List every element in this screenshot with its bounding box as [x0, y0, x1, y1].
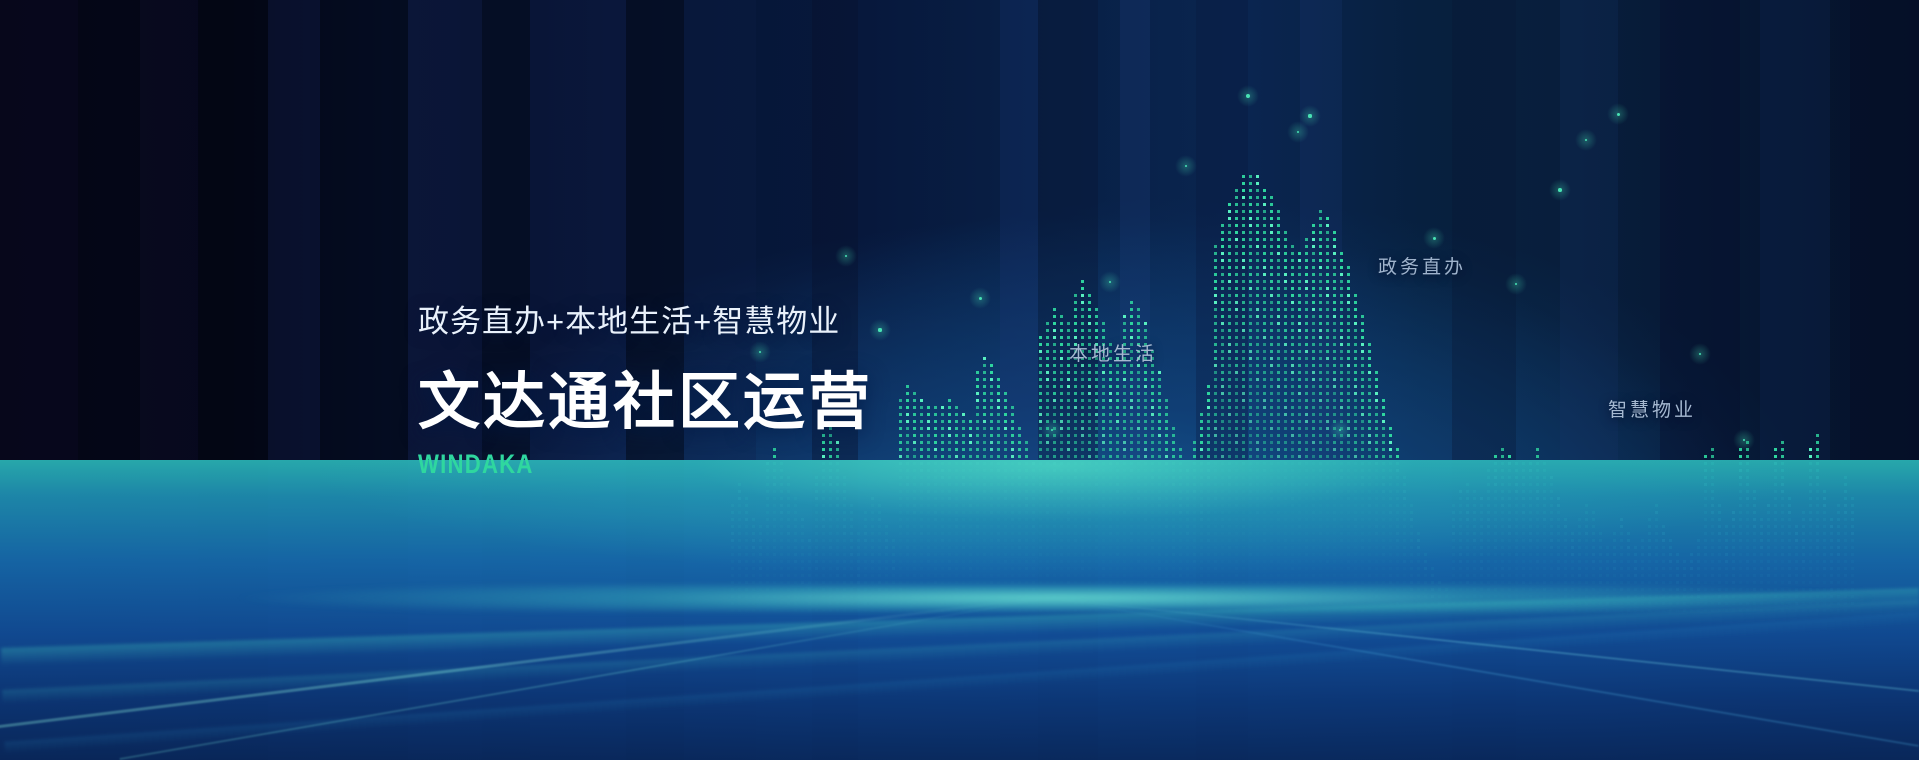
skyline-dot — [934, 420, 937, 423]
skyline-dot — [1228, 266, 1231, 269]
skyline-dot — [1200, 427, 1203, 430]
skyline-dot — [1207, 448, 1210, 451]
skyline-dot — [1109, 385, 1112, 388]
skyline-dot — [1249, 203, 1252, 206]
skyline-dot — [899, 448, 902, 451]
skyline-dot — [1326, 280, 1329, 283]
skyline-dot — [1256, 336, 1259, 339]
skyline-dot — [983, 434, 986, 437]
skyline-dot — [1333, 364, 1336, 367]
skyline-dot — [1263, 301, 1266, 304]
skyline-dot — [1165, 448, 1168, 451]
skyline-dot — [1039, 399, 1042, 402]
skyline-dot — [1361, 336, 1364, 339]
skyline-dot — [1228, 385, 1231, 388]
skyline-dot — [1074, 329, 1077, 332]
skyline-dot — [1354, 455, 1357, 458]
skyline-dot — [1326, 308, 1329, 311]
skyline-dot — [962, 455, 965, 458]
skyline-dot — [1270, 203, 1273, 206]
skyline-dot — [997, 413, 1000, 416]
skyline-dot — [1375, 434, 1378, 437]
skyline-dot — [1305, 455, 1308, 458]
skyline-dot — [1305, 413, 1308, 416]
skyline-dot — [1074, 413, 1077, 416]
skyline-dot — [1291, 252, 1294, 255]
skyline-dot — [927, 406, 930, 409]
skyline-dot — [906, 455, 909, 458]
skyline-dot — [1228, 392, 1231, 395]
skyline-dot — [1060, 364, 1063, 367]
skyline-dot — [1319, 287, 1322, 290]
skyline-dot — [1039, 336, 1042, 339]
skyline-dot — [1151, 420, 1154, 423]
skyline-dot — [955, 420, 958, 423]
skyline-dot — [1151, 399, 1154, 402]
skyline-dot — [1046, 364, 1049, 367]
skyline-dot — [1074, 455, 1077, 458]
skyline-dot — [899, 427, 902, 430]
skyline-dot — [1165, 413, 1168, 416]
skyline-dot — [1333, 455, 1336, 458]
skyline-dot — [906, 413, 909, 416]
skyline-dot — [1249, 210, 1252, 213]
skyline-dot — [1326, 364, 1329, 367]
skyline-dot — [1305, 357, 1308, 360]
skyline-dot — [1340, 322, 1343, 325]
skyline-dot — [1305, 420, 1308, 423]
skyline-dot — [1242, 406, 1245, 409]
skyline-dot — [1060, 378, 1063, 381]
skyline-dot — [1319, 322, 1322, 325]
skyline-dot — [1102, 434, 1105, 437]
skyline-dot — [983, 441, 986, 444]
skyline-dot — [1368, 364, 1371, 367]
skyline-dot — [1151, 406, 1154, 409]
skyline-dot — [1221, 427, 1224, 430]
skyline-dot — [1004, 427, 1007, 430]
skyline-dot — [1235, 189, 1238, 192]
skyline-dot — [1053, 455, 1056, 458]
skyline-dot — [1039, 343, 1042, 346]
skyline-dot — [1095, 392, 1098, 395]
skyline-dot — [1305, 392, 1308, 395]
skyline-dot — [983, 413, 986, 416]
skyline-dot — [1228, 364, 1231, 367]
skyline-dot — [1284, 343, 1287, 346]
skyline-dot — [1305, 441, 1308, 444]
skyline-dot — [1277, 238, 1280, 241]
skyline-dot — [1347, 301, 1350, 304]
skyline-dot — [1389, 427, 1392, 430]
skyline-dot — [1200, 413, 1203, 416]
skyline-dot — [1102, 385, 1105, 388]
skyline-dot — [1151, 413, 1154, 416]
skyline-dot — [1305, 252, 1308, 255]
skyline-dot — [1130, 385, 1133, 388]
skyline-dot — [1298, 413, 1301, 416]
skyline-dot — [1102, 392, 1105, 395]
skyline-dot — [1277, 259, 1280, 262]
skyline-dot — [1312, 420, 1315, 423]
skyline-dot — [983, 399, 986, 402]
skyline-dot — [1067, 448, 1070, 451]
skyline-dot — [1095, 448, 1098, 451]
skyline-dot — [1256, 371, 1259, 374]
skyline-dot — [1060, 343, 1063, 346]
skyline-dot — [1312, 434, 1315, 437]
skyline-dot — [1298, 329, 1301, 332]
skyline-dot — [1326, 434, 1329, 437]
skyline-dot — [1326, 455, 1329, 458]
skyline-dot — [1088, 315, 1091, 318]
skyline-dot — [1221, 448, 1224, 451]
skyline-dot — [1312, 350, 1315, 353]
skyline-dot — [1249, 231, 1252, 234]
skyline-dot — [1116, 448, 1119, 451]
skyline-dot — [1102, 427, 1105, 430]
skyline-dot — [1242, 441, 1245, 444]
skyline-dot — [1536, 448, 1539, 451]
skyline-dot — [1046, 448, 1049, 451]
skyline-dot — [1095, 399, 1098, 402]
skyline-dot — [1130, 420, 1133, 423]
skyline-dot — [1270, 357, 1273, 360]
skyline-dot — [1347, 455, 1350, 458]
skyline-dot — [976, 399, 979, 402]
skyline-dot — [1123, 420, 1126, 423]
skyline-dot — [1235, 350, 1238, 353]
skyline-dot — [1326, 287, 1329, 290]
skyline-dot — [1235, 322, 1238, 325]
skyline-dot — [1214, 245, 1217, 248]
skyline-dot — [1074, 420, 1077, 423]
skyline-dot — [1228, 343, 1231, 346]
skyline-dot — [1039, 357, 1042, 360]
brand-wordmark: WINDAKA — [418, 449, 791, 480]
skyline-dot — [1214, 308, 1217, 311]
skyline-dot — [1396, 455, 1399, 458]
skyline-dot — [1340, 420, 1343, 423]
skyline-dot — [1354, 420, 1357, 423]
skyline-dot — [1361, 364, 1364, 367]
skyline-dot — [1228, 455, 1231, 458]
skyline-dot — [913, 448, 916, 451]
skyline-dot — [1242, 322, 1245, 325]
skyline-dot — [1256, 406, 1259, 409]
skyline-dot — [1319, 441, 1322, 444]
skyline-dot — [1130, 392, 1133, 395]
skyline-dot — [1368, 385, 1371, 388]
skyline-dot — [1340, 294, 1343, 297]
skyline-dot — [1228, 399, 1231, 402]
skyline-dot — [1151, 371, 1154, 374]
skyline-dot — [1235, 231, 1238, 234]
skyline-dot — [1123, 385, 1126, 388]
skyline-dot — [1375, 392, 1378, 395]
skyline-dot — [1235, 329, 1238, 332]
skyline-dot — [1228, 420, 1231, 423]
skyline-dot — [1144, 420, 1147, 423]
skyline-dot — [1221, 413, 1224, 416]
skyline-dot — [1088, 427, 1091, 430]
skyline-dot — [1046, 392, 1049, 395]
skyline-dot — [1207, 406, 1210, 409]
skyline-dot — [1305, 238, 1308, 241]
skyline-dot — [1102, 322, 1105, 325]
skyline-dot — [1312, 378, 1315, 381]
skyline-dot — [1284, 238, 1287, 241]
skyline-dot — [1249, 245, 1252, 248]
skyline-dot — [1291, 434, 1294, 437]
skyline-dot — [1242, 350, 1245, 353]
skyline-dot — [1277, 371, 1280, 374]
skyline-dot — [1277, 385, 1280, 388]
skyline-dot — [1277, 273, 1280, 276]
skyline-dot — [1326, 273, 1329, 276]
skyline-dot — [1347, 448, 1350, 451]
skyline-dot — [948, 420, 951, 423]
skyline-dot — [1291, 273, 1294, 276]
skyline-dot — [1263, 329, 1266, 332]
skyline-dot — [1291, 448, 1294, 451]
skyline-dot — [927, 427, 930, 430]
skyline-dot — [1277, 427, 1280, 430]
skyline-dot — [1137, 455, 1140, 458]
hero-banner: 政务直办+本地生活+智慧物业 文达通社区运营 WINDAKA 政务直办本地生活智… — [0, 0, 1919, 760]
skyline-dot — [955, 455, 958, 458]
skyline-dot — [1319, 399, 1322, 402]
skyline-dot — [1235, 252, 1238, 255]
skyline-dot — [1200, 448, 1203, 451]
skyline-dot — [1116, 371, 1119, 374]
skyline-dot — [1060, 385, 1063, 388]
skyline-dot — [1263, 455, 1266, 458]
skyline-dot — [1291, 287, 1294, 290]
skyline-dot — [1382, 455, 1385, 458]
skyline-dot — [1249, 455, 1252, 458]
skyline-dot — [1284, 315, 1287, 318]
skyline-dot — [1319, 301, 1322, 304]
skyline-dot — [1298, 357, 1301, 360]
skyline-dot — [1347, 266, 1350, 269]
skyline-dot — [1249, 224, 1252, 227]
skyline-dot — [1067, 378, 1070, 381]
skyline-dot — [1340, 308, 1343, 311]
skyline-dot — [1214, 287, 1217, 290]
skyline-dot — [1095, 434, 1098, 437]
skyline-dot — [1263, 343, 1266, 346]
skyline-dot — [1242, 245, 1245, 248]
skyline-dot — [976, 455, 979, 458]
skyline-dot — [1340, 392, 1343, 395]
skyline-dot — [1361, 371, 1364, 374]
skyline-dot — [1361, 420, 1364, 423]
skyline-dot — [1102, 413, 1105, 416]
skyline-dot — [1214, 273, 1217, 276]
skyline-dot — [1270, 294, 1273, 297]
skyline-dot — [1305, 448, 1308, 451]
skyline-dot — [1298, 315, 1301, 318]
skyline-dot — [1221, 336, 1224, 339]
skyline-dot — [1256, 399, 1259, 402]
skyline-dot — [913, 392, 916, 395]
skyline-dot — [1277, 343, 1280, 346]
skyline-dot — [1305, 371, 1308, 374]
skyline-dot — [1172, 434, 1175, 437]
skyline-dot — [1004, 406, 1007, 409]
skyline-dot — [1088, 399, 1091, 402]
skyline-dot — [1025, 441, 1028, 444]
skyline-dot — [1053, 329, 1056, 332]
skyline-dot — [1137, 413, 1140, 416]
skyline-dot — [1137, 392, 1140, 395]
skyline-dot — [1081, 378, 1084, 381]
skyline-dot — [990, 441, 993, 444]
skyline-dot — [1361, 448, 1364, 451]
skyline-dot — [1256, 273, 1259, 276]
skyline-dot — [1326, 315, 1329, 318]
skyline-dot — [1312, 287, 1315, 290]
skyline-dot — [1333, 343, 1336, 346]
skyline-dot — [1298, 392, 1301, 395]
skyline-dot — [990, 385, 993, 388]
skyline-dot — [1305, 343, 1308, 346]
skyline-dot — [1291, 357, 1294, 360]
skyline-dot — [1382, 420, 1385, 423]
skyline-dot — [1347, 322, 1350, 325]
skyline-dot — [1284, 308, 1287, 311]
skyline-dot — [1228, 238, 1231, 241]
skyline-dot — [1305, 385, 1308, 388]
skyline-dot — [1382, 399, 1385, 402]
skyline-dot — [1088, 434, 1091, 437]
skyline-dot — [1291, 280, 1294, 283]
skyline-dot — [941, 434, 944, 437]
skyline-dot — [1081, 322, 1084, 325]
skyline-dot — [1312, 357, 1315, 360]
skyline-dot — [1081, 287, 1084, 290]
skyline-dot — [906, 441, 909, 444]
skyline-dot — [1277, 329, 1280, 332]
skyline-dot — [1123, 322, 1126, 325]
skyline-dot — [1494, 455, 1497, 458]
skyline-dot — [1291, 266, 1294, 269]
skyline-dot — [1326, 329, 1329, 332]
skyline-dot — [983, 364, 986, 367]
skyline-dot — [1242, 364, 1245, 367]
skyline-dot — [1319, 210, 1322, 213]
skyline-dot — [976, 406, 979, 409]
skyline-dot — [1018, 441, 1021, 444]
skyline-dot — [1298, 273, 1301, 276]
skyline-dot — [962, 441, 965, 444]
skyline-dot — [1284, 427, 1287, 430]
skyline-dot — [1333, 392, 1336, 395]
skyline-dot — [1354, 406, 1357, 409]
skyline-dot — [1249, 364, 1252, 367]
skyline-dot — [1340, 448, 1343, 451]
skyline-dot — [1347, 336, 1350, 339]
skyline-dot — [1340, 259, 1343, 262]
skyline-dot — [1326, 378, 1329, 381]
skyline-dot — [934, 434, 937, 437]
skyline-dot — [1277, 322, 1280, 325]
skyline-dot — [1221, 385, 1224, 388]
skyline-dot — [906, 420, 909, 423]
skyline-dot — [1095, 308, 1098, 311]
skyline-dot — [1291, 364, 1294, 367]
skyline-dot — [1368, 413, 1371, 416]
horizon-glow — [0, 585, 1919, 611]
skyline-dot — [1277, 217, 1280, 220]
skyline-dot — [1242, 182, 1245, 185]
skyline-dot — [1214, 371, 1217, 374]
skyline-dot — [1221, 455, 1224, 458]
skyline-dot — [948, 406, 951, 409]
skyline-dot — [1739, 448, 1742, 451]
skyline-dot — [1368, 427, 1371, 430]
skyline-dot — [1774, 448, 1777, 451]
skyline-dot — [941, 420, 944, 423]
skyline-dot — [913, 441, 916, 444]
skyline-dot — [1095, 406, 1098, 409]
skyline-dot — [1319, 259, 1322, 262]
skyline-dot — [1060, 399, 1063, 402]
skyline-dot — [1333, 273, 1336, 276]
skyline-dot — [1221, 308, 1224, 311]
skyline-dot — [1025, 455, 1028, 458]
skyline-dot — [1221, 434, 1224, 437]
skyline-dot — [1263, 364, 1266, 367]
skyline-dot — [1347, 315, 1350, 318]
skyline-dot — [1228, 294, 1231, 297]
skyline-dot — [1312, 315, 1315, 318]
skyline-dot — [1214, 357, 1217, 360]
skyline-dot — [1312, 231, 1315, 234]
skyline-dot — [1228, 322, 1231, 325]
skyline-dot — [1060, 371, 1063, 374]
skyline-dot — [1081, 441, 1084, 444]
skyline-dot — [1319, 217, 1322, 220]
skyline-dot — [941, 406, 944, 409]
skyline-dot — [1123, 413, 1126, 416]
skyline-dot — [1284, 294, 1287, 297]
skyline-dot — [1151, 378, 1154, 381]
skyline-dot — [1305, 350, 1308, 353]
skyline-dot — [1263, 350, 1266, 353]
skyline-dot — [1228, 203, 1231, 206]
skyline-dot — [1319, 413, 1322, 416]
skyline-dot — [990, 448, 993, 451]
skyline-dot — [1291, 413, 1294, 416]
skyline-dot — [1018, 455, 1021, 458]
skyline-dot — [1340, 315, 1343, 318]
skyline-dot — [1270, 399, 1273, 402]
skyline-dot — [1354, 343, 1357, 346]
skyline-dot — [1165, 441, 1168, 444]
skyline-dot — [1060, 322, 1063, 325]
skyline-dot — [1011, 427, 1014, 430]
skyline-dot — [1172, 455, 1175, 458]
skyline-dot — [906, 448, 909, 451]
skyline-dot — [1319, 385, 1322, 388]
skyline-dot — [1116, 413, 1119, 416]
skyline-dot — [1123, 371, 1126, 374]
skyline-dot — [1270, 413, 1273, 416]
skyline-dot — [1235, 238, 1238, 241]
skyline-dot — [920, 406, 923, 409]
